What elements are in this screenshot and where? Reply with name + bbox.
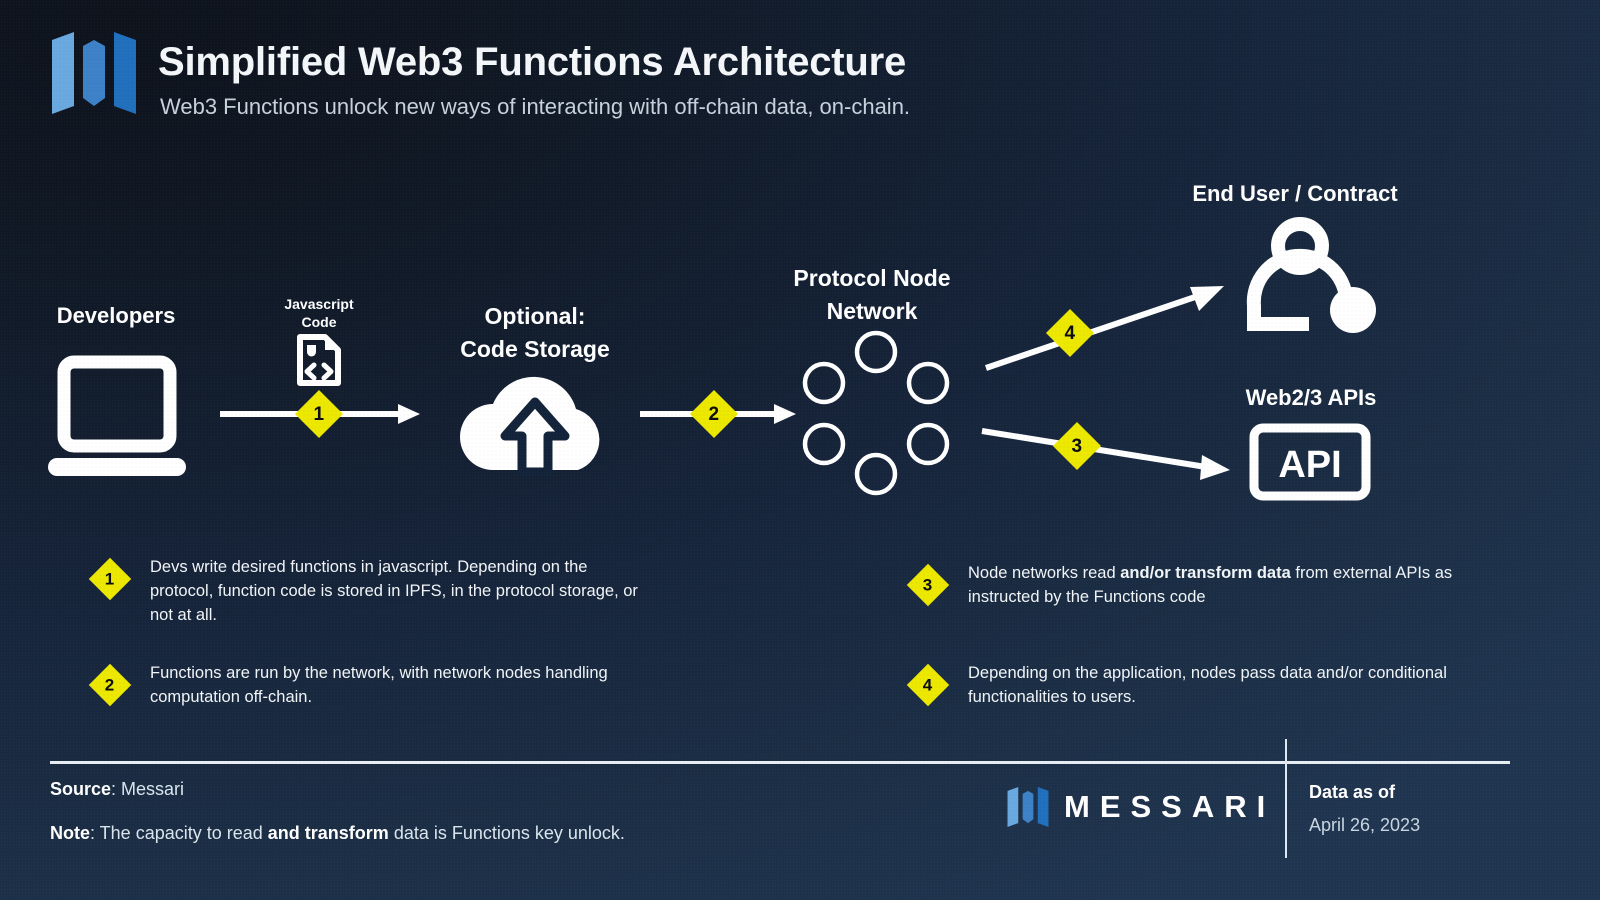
network-node: [805, 425, 843, 463]
legend-badge-4: 4: [907, 664, 949, 706]
messari-logo-icon: [1005, 787, 1051, 827]
legend-item-2: 2 Functions are run by the network, with…: [95, 662, 655, 710]
messari-wordmark: MESSARI: [1064, 789, 1275, 825]
legend-item-1: 1 Devs write desired functions in javasc…: [95, 556, 655, 628]
arrow-badge-4-number: 4: [1065, 323, 1076, 342]
node-label-protocol-network: Protocol Node Network: [762, 262, 982, 327]
node-label-developers: Developers: [48, 300, 184, 331]
legend-text-4: Depending on the application, nodes pass…: [968, 662, 1473, 710]
arrow-4: [984, 278, 1228, 378]
legend-badge-2: 2: [89, 664, 131, 706]
arrow-badge-2-number: 2: [709, 404, 720, 423]
date-label: Data as of: [1309, 782, 1420, 803]
node-ring-icon: [800, 330, 950, 495]
javascript-code-label-line2: Code: [262, 313, 376, 331]
legend-text-2: Functions are run by the network, with n…: [150, 662, 655, 710]
protocol-network-label-line1: Protocol Node: [762, 262, 982, 295]
api-box-text: API: [1278, 444, 1341, 486]
date-value: April 26, 2023: [1309, 815, 1420, 836]
arrow-badge-1-number: 1: [314, 404, 325, 423]
network-node: [805, 364, 843, 402]
messari-logo-icon: [48, 32, 140, 114]
laptop-icon: [46, 358, 188, 482]
legend-badge-1-number: 1: [105, 571, 114, 588]
messari-logo-svg: [48, 32, 140, 114]
footer-brand: MESSARI: [1005, 787, 1275, 827]
note-label: Note: [50, 823, 90, 843]
infographic-canvas: Simplified Web3 Functions Architecture W…: [0, 0, 1600, 900]
legend-badge-3: 3: [907, 564, 949, 606]
legend-badge-1: 1: [89, 558, 131, 600]
arrow-badge-3-number: 3: [1072, 436, 1083, 455]
network-node: [909, 425, 947, 463]
javascript-code-label-line1: Javascript: [262, 295, 376, 313]
legend-text-1: Devs write desired functions in javascri…: [150, 556, 655, 628]
footer-divider: [50, 761, 1510, 764]
legend-item-3: 3 Node networks read and/or transform da…: [913, 562, 1473, 610]
page-title: Simplified Web3 Functions Architecture: [158, 40, 906, 85]
node-label-apis: Web2/3 APIs: [1180, 382, 1442, 413]
note-value: : The capacity to read and transform dat…: [90, 823, 625, 843]
source-value: : Messari: [111, 779, 184, 799]
arrow-badge-2: 2: [690, 390, 738, 438]
legend-text-3: Node networks read and/or transform data…: [968, 562, 1473, 610]
api-box-icon: API: [1249, 423, 1371, 501]
legend-badge-2-number: 2: [105, 677, 114, 694]
legend-badge-3-number: 3: [923, 577, 932, 594]
legend-item-4: 4 Depending on the application, nodes pa…: [913, 662, 1473, 710]
source-label: Source: [50, 779, 111, 799]
footer-vertical-divider: [1285, 739, 1287, 858]
protocol-network-label-line2: Network: [762, 295, 982, 328]
network-node: [857, 455, 895, 493]
code-storage-label-line1: Optional:: [420, 300, 650, 333]
page-subtitle: Web3 Functions unlock new ways of intera…: [160, 94, 910, 120]
user-contract-icon: [1245, 218, 1375, 336]
source-line: Source: Messari: [50, 779, 184, 800]
arrow-badge-1: 1: [295, 390, 343, 438]
code-file-icon: [296, 334, 342, 386]
date-block: Data as of April 26, 2023: [1309, 782, 1420, 836]
arrow-3: [982, 420, 1230, 484]
node-label-end-user: End User / Contract: [1125, 178, 1465, 209]
network-node: [909, 364, 947, 402]
legend-badge-4-number: 4: [923, 677, 932, 694]
cloud-upload-icon: [452, 352, 618, 476]
note-line: Note: The capacity to read and transform…: [50, 823, 625, 844]
javascript-code-label: Javascript Code: [262, 295, 376, 331]
network-node: [857, 333, 895, 371]
